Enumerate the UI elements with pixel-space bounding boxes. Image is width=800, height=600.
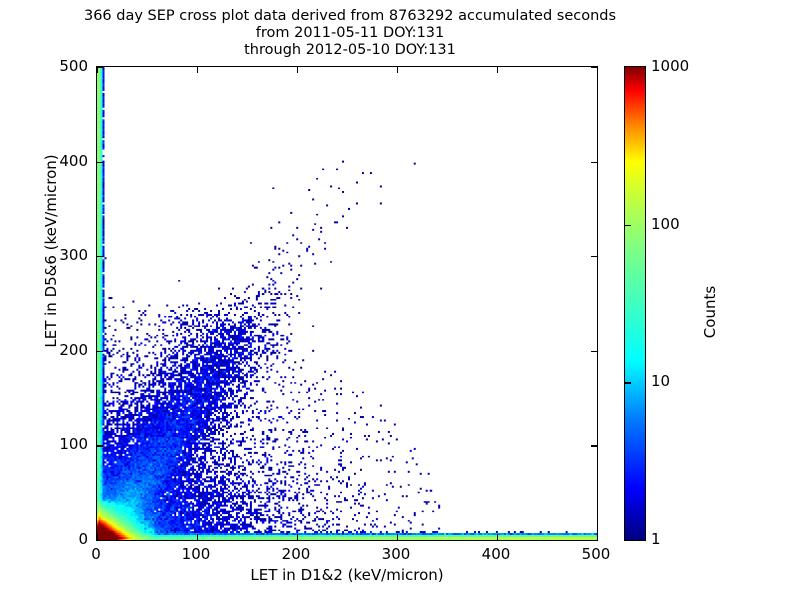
x-tick xyxy=(497,67,498,73)
colorbar-tick-label: 10 xyxy=(651,372,670,390)
y-tick xyxy=(591,256,597,257)
x-tick xyxy=(497,534,498,540)
y-tick xyxy=(97,540,103,541)
chart-page: 366 day SEP cross plot data derived from… xyxy=(0,0,800,600)
density-heatmap-canvas xyxy=(97,67,597,540)
y-tick xyxy=(97,162,103,163)
y-tick xyxy=(591,162,597,163)
x-axis-label: LET in D1&2 (keV/micron) xyxy=(96,566,598,584)
y-tick xyxy=(97,445,103,446)
x-tick xyxy=(597,534,598,540)
y-tick xyxy=(591,540,597,541)
colorbar-gradient xyxy=(625,67,645,540)
x-tick-label: 500 xyxy=(582,545,611,563)
x-tick-label: 0 xyxy=(91,545,101,563)
y-tick xyxy=(97,256,103,257)
colorbar-tick-label: 1 xyxy=(651,530,661,548)
colorbar xyxy=(624,66,646,541)
x-tick xyxy=(297,67,298,73)
x-tick-label: 400 xyxy=(482,545,511,563)
colorbar-tick xyxy=(625,382,631,383)
x-tick-label: 200 xyxy=(282,545,311,563)
x-tick-label: 300 xyxy=(382,545,411,563)
colorbar-tick-label: 100 xyxy=(651,215,680,233)
colorbar-axis-label: Counts xyxy=(701,192,719,432)
title-line-2: from 2011-05-11 DOY:131 xyxy=(0,25,700,42)
x-tick xyxy=(397,534,398,540)
y-axis-label: LET in D5&6 (keV/micron) xyxy=(42,71,60,431)
colorbar-tick-label: 1000 xyxy=(651,57,689,75)
colorbar-tick xyxy=(625,225,631,226)
title-line-1: 366 day SEP cross plot data derived from… xyxy=(0,8,700,25)
y-tick xyxy=(591,351,597,352)
chart-title: 366 day SEP cross plot data derived from… xyxy=(0,8,700,59)
x-tick xyxy=(297,534,298,540)
y-tick xyxy=(591,445,597,446)
y-tick xyxy=(591,67,597,68)
x-tick-label: 100 xyxy=(182,545,211,563)
x-tick xyxy=(397,67,398,73)
x-tick xyxy=(197,534,198,540)
x-tick xyxy=(197,67,198,73)
plot-area xyxy=(96,66,598,541)
y-tick-label: 0 xyxy=(30,530,88,548)
y-tick xyxy=(97,351,103,352)
y-tick-label: 100 xyxy=(30,435,88,453)
title-line-3: through 2012-05-10 DOY:131 xyxy=(0,42,700,59)
x-tick xyxy=(597,67,598,73)
y-tick xyxy=(97,67,103,68)
